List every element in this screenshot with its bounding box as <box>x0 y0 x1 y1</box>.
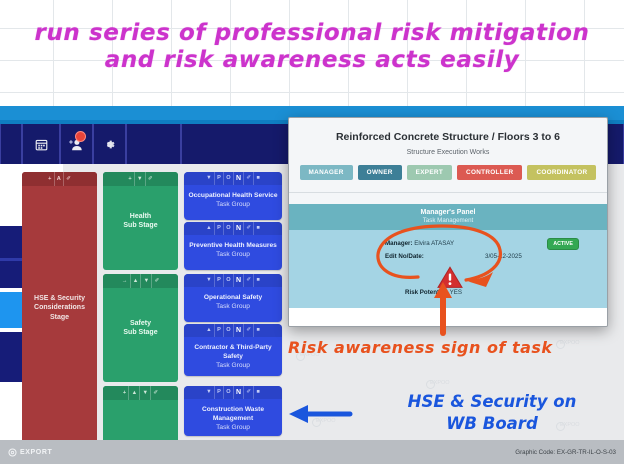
managers-panel-body: Manager: Elvira ATASAY Edit No/Date: 3/0… <box>289 230 607 308</box>
delete-icon[interactable]: ■ <box>254 222 262 235</box>
nav-button-settings[interactable] <box>93 124 126 164</box>
task-card[interactable]: ▲ P O N ✐ ■ Preventive Health Measures T… <box>184 222 282 270</box>
stage-column-hse-security[interactable]: + A ✐ HSE & Security Considerations Stag… <box>22 172 97 444</box>
task-card-body: Occupational Health Service Task Group <box>184 185 282 216</box>
role-tab-controller[interactable]: CONTROLLER <box>457 165 522 180</box>
stage-title-line-1: HSE & Security <box>34 294 85 304</box>
task-detail-dialog: Reinforced Concrete Structure / Floors 3… <box>288 117 608 327</box>
substage-title: Health <box>130 212 151 222</box>
notification-badge <box>75 131 86 142</box>
add-icon[interactable]: + <box>121 386 130 400</box>
note-icon[interactable]: N <box>234 386 244 399</box>
calendar-icon <box>35 138 48 151</box>
gear-icon <box>8 448 17 457</box>
task-title: Operational Safety <box>188 293 278 302</box>
task-card-body: Construction Waste Management Task Group <box>184 399 282 436</box>
stage-title-line-3: Stage <box>50 313 69 323</box>
task-card-body: Contractor & Third-Party Safety Task Gro… <box>184 337 282 376</box>
export-button[interactable]: EXPORT <box>8 446 52 458</box>
nav-button-add-user[interactable] <box>60 124 93 164</box>
task-subtitle: Task Group <box>188 250 278 259</box>
risk-potential-row: Risk Potential: YES <box>405 289 462 296</box>
dialog-subtitle: Structure Execution Works <box>289 149 607 156</box>
task-card[interactable]: ▼ P O N ✐ ■ Construction Waste Managemen… <box>184 386 282 436</box>
role-tab-expert[interactable]: EXPERT <box>407 165 452 180</box>
dialog-footer <box>289 308 607 327</box>
task-title: Occupational Health Service <box>188 191 278 200</box>
edit-icon[interactable]: ✐ <box>244 386 254 399</box>
move-down-icon[interactable]: ▼ <box>204 172 215 185</box>
plan-icon[interactable]: P <box>215 324 224 337</box>
task-card-header[interactable]: ▼ P O N ✐ ■ <box>184 274 282 287</box>
task-card[interactable]: ▼ P O N ✐ ■ Operational Safety Task Grou… <box>184 274 282 322</box>
edit-label: Edit No/Date: <box>385 253 424 260</box>
plan-icon[interactable]: P <box>215 386 224 399</box>
plan-icon[interactable]: P <box>215 222 224 235</box>
task-card-body: Operational Safety Task Group <box>184 287 282 318</box>
role-tab-manager[interactable]: MANAGER <box>300 165 353 180</box>
substage-safety-label: Safety Sub Stage <box>103 274 178 382</box>
task-card-header[interactable]: ▼ P O N ✐ ■ <box>184 172 282 185</box>
edit-no-date-row: Edit No/Date: <box>385 253 424 260</box>
orange-annotation-text: Risk awareness sign of task <box>288 338 624 357</box>
risk-label: Risk Potential: <box>405 289 448 296</box>
substage-health[interactable]: + ▼ ✐ Health Sub Stage <box>103 172 178 270</box>
blue-annotation-text: HSE & Security on WB Board <box>360 391 624 435</box>
task-title: Preventive Health Measures <box>188 241 278 250</box>
headline-annotation: run series of professional risk mitigati… <box>0 20 624 74</box>
nav-cell-title[interactable] <box>181 124 300 164</box>
stage-column-label: HSE & Security Considerations Stage <box>22 172 97 444</box>
role-tab-owner[interactable]: OWNER <box>358 165 402 180</box>
move-up-icon[interactable]: ▲ <box>204 324 215 337</box>
substage-waste[interactable]: + ▲ ▼ ✐ <box>103 386 178 444</box>
edit-date-value: 3/05-12-2025 <box>485 253 522 260</box>
headline-line-1: run series of professional risk mitigati… <box>0 20 624 47</box>
substage-health-label: Health Sub Stage <box>103 172 178 270</box>
delete-icon[interactable]: ■ <box>254 324 262 337</box>
gear-icon <box>103 138 116 151</box>
manager-row: Manager: Elvira ATASAY <box>385 240 454 247</box>
warning-triangle-icon <box>437 266 463 289</box>
task-card-header[interactable]: ▼ P O N ✐ ■ <box>184 386 282 399</box>
task-card-header[interactable]: ▲ P O N ✐ ■ <box>184 324 282 337</box>
panel-subheading: Task Management <box>289 217 607 224</box>
panel-heading: Manager's Panel <box>289 209 607 216</box>
dialog-title: Reinforced Concrete Structure / Floors 3… <box>289 131 607 143</box>
nav-cell-middle[interactable] <box>126 124 181 164</box>
note-icon[interactable]: N <box>234 274 244 287</box>
substage-subtitle: Sub Stage <box>123 328 157 338</box>
note-icon[interactable]: N <box>234 172 244 185</box>
graphic-code-label: Graphic Code: EX-GR-TR-IL-O-S-03 <box>515 449 616 456</box>
move-down-icon[interactable]: ▼ <box>204 274 215 287</box>
role-tab-coordinator[interactable]: COORDINATOR <box>527 165 596 180</box>
order-icon[interactable]: O <box>224 274 234 287</box>
task-card-body: Preventive Health Measures Task Group <box>184 235 282 266</box>
order-icon[interactable]: O <box>224 172 234 185</box>
manager-label: Manager: <box>385 240 413 247</box>
edit-icon[interactable]: ✐ <box>244 172 254 185</box>
task-card[interactable]: ▲ P O N ✐ ■ Contractor & Third-Party Saf… <box>184 324 282 376</box>
substage-waste-icons[interactable]: + ▲ ▼ ✐ <box>103 386 178 400</box>
export-label: EXPORT <box>20 449 52 456</box>
nav-button-calendar[interactable] <box>22 124 60 164</box>
task-subtitle: Task Group <box>188 302 278 311</box>
dialog-divider <box>289 192 607 193</box>
substage-subtitle: Sub Stage <box>123 221 157 231</box>
delete-icon[interactable]: ■ <box>254 274 262 287</box>
blue-annotation-line-2: WB Board <box>360 413 624 435</box>
note-icon[interactable]: N <box>234 324 244 337</box>
screenshot-root: run series of professional risk mitigati… <box>0 0 624 464</box>
role-tabs: MANAGER OWNER EXPERT CONTROLLER COORDINA… <box>289 165 607 180</box>
substage-title: Safety <box>130 319 151 329</box>
delete-icon[interactable]: ■ <box>254 386 262 399</box>
edit-icon[interactable]: ✐ <box>244 274 254 287</box>
substage-safety[interactable]: → ▲ ▼ ✐ Safety Sub Stage <box>103 274 178 382</box>
substage-waste-header[interactable]: + ▲ ▼ ✐ <box>103 386 178 400</box>
stage-title-line-2: Considerations <box>34 303 85 313</box>
order-icon[interactable]: O <box>224 324 234 337</box>
task-title: Contractor & Third-Party Safety <box>188 343 278 361</box>
task-subtitle: Task Group <box>188 200 278 209</box>
task-title: Construction Waste Management <box>188 405 278 423</box>
move-down-icon[interactable]: ▼ <box>140 386 151 400</box>
move-up-icon[interactable]: ▲ <box>204 222 215 235</box>
managers-panel-header: Manager's Panel Task Management <box>289 204 607 230</box>
task-card[interactable]: ▼ P O N ✐ ■ Occupational Health Service … <box>184 172 282 220</box>
order-icon[interactable]: O <box>224 222 234 235</box>
headline-line-2: and risk awareness acts easily <box>0 47 624 74</box>
blue-annotation-line-1: HSE & Security on <box>360 391 624 413</box>
plan-icon[interactable]: P <box>215 172 224 185</box>
nav-cell-empty-left[interactable] <box>0 124 22 164</box>
delete-icon[interactable]: ■ <box>254 172 262 185</box>
order-icon[interactable]: O <box>224 386 234 399</box>
note-icon[interactable]: N <box>234 222 244 235</box>
edit-icon[interactable]: ✐ <box>244 222 254 235</box>
plan-icon[interactable]: P <box>215 274 224 287</box>
task-subtitle: Task Group <box>188 423 278 432</box>
edit-icon[interactable]: ✐ <box>244 324 254 337</box>
manager-value: Elvira ATASAY <box>414 240 454 247</box>
edit-icon[interactable]: ✐ <box>151 386 160 400</box>
move-up-icon[interactable]: ▲ <box>129 386 140 400</box>
task-subtitle: Task Group <box>188 361 278 370</box>
move-down-icon[interactable]: ▼ <box>204 386 215 399</box>
status-badge: ACTIVE <box>547 238 579 250</box>
task-card-header[interactable]: ▲ P O N ✐ ■ <box>184 222 282 235</box>
risk-value: YES <box>450 289 462 296</box>
